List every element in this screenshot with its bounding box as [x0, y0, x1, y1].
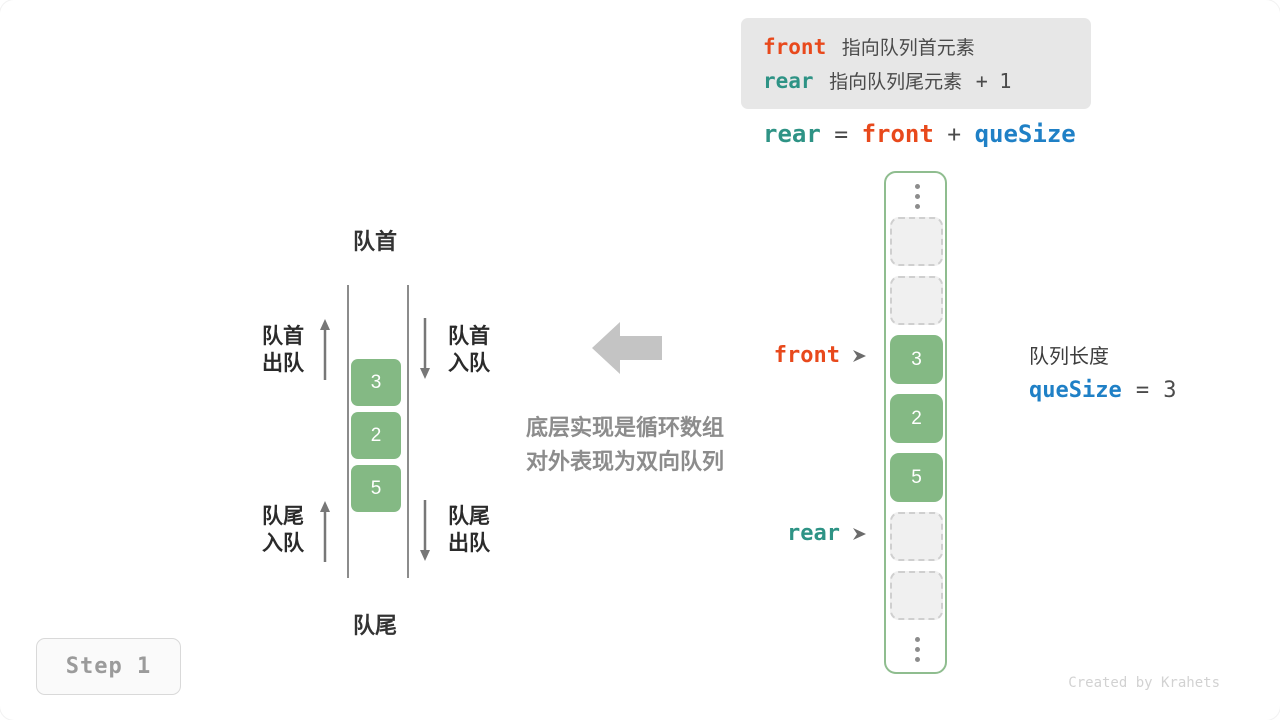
queue-size-note: 队列长度 queSize = 3: [1029, 340, 1176, 409]
label-front-dequeue-line1: 队首: [248, 323, 304, 350]
callout-line-front: front 指向队列首元素: [763, 30, 1091, 64]
array-slot: [890, 217, 943, 266]
rear-offset-value: 1: [999, 69, 1011, 93]
array-slot: 2: [890, 394, 943, 443]
deque-cell: 2: [351, 412, 401, 459]
queue-size-note-label: 队列长度: [1029, 340, 1176, 372]
formula-plus: +: [947, 122, 961, 148]
deque-cell: 3: [351, 359, 401, 406]
label-front-dequeue: 队首 出队: [248, 323, 304, 377]
front-description: 指向队列首元素: [842, 37, 975, 59]
rear-plus-operator: +: [976, 69, 988, 93]
front-dequeue-arrow-icon: [318, 318, 332, 380]
label-back-dequeue-line2: 出队: [448, 530, 504, 557]
credit-text: Created by Krahets: [1060, 675, 1220, 691]
label-front-dequeue-line2: 出队: [248, 350, 304, 377]
queue-size-expression: queSize = 3: [1029, 372, 1176, 409]
callout-line-rear: rear 指向队列尾元素 + 1: [763, 64, 1091, 98]
deque-rail-right: [407, 285, 409, 578]
quesize-variable: queSize: [1029, 378, 1122, 403]
deque-front-label: 队首: [345, 224, 405, 256]
label-back-enqueue: 队尾 入队: [248, 503, 304, 557]
label-front-enqueue-line2: 入队: [448, 350, 504, 377]
back-enqueue-arrow-icon: [318, 500, 332, 562]
label-back-dequeue-line1: 队尾: [448, 503, 504, 530]
label-back-dequeue: 队尾 出队: [448, 503, 504, 557]
back-dequeue-arrow-icon: [418, 500, 432, 562]
array-ellipsis-top-icon: [886, 177, 949, 215]
front-pointer-arrow-icon: [852, 348, 868, 364]
array-slot: [890, 512, 943, 561]
rear-description: 指向队列尾元素: [829, 71, 962, 93]
diagram-canvas: front 指向队列首元素 rear 指向队列尾元素 + 1 rear = fr…: [0, 0, 1280, 720]
step-badge: Step 1: [36, 638, 181, 695]
implementation-caption-line1: 底层实现是循环数组: [500, 412, 750, 446]
quesize-equals: =: [1136, 378, 1149, 403]
rear-pointer-arrow-icon: [852, 526, 868, 542]
array-slot: [890, 571, 943, 620]
front-keyword: front: [763, 35, 826, 59]
array-slot: [890, 276, 943, 325]
implementation-caption-line2: 对外表现为双向队列: [500, 446, 750, 480]
deque-cell: 5: [351, 465, 401, 512]
maps-to-arrow-icon: [592, 320, 662, 376]
label-front-enqueue-line1: 队首: [448, 323, 504, 350]
array-ellipsis-bottom-icon: [886, 630, 949, 668]
label-back-enqueue-line1: 队尾: [248, 503, 304, 530]
deque-back-label: 队尾: [345, 608, 405, 640]
formula-rear: rear: [763, 120, 821, 148]
quesize-value: 3: [1163, 378, 1176, 403]
formula-front: front: [862, 120, 934, 148]
deque-rail-left: [347, 285, 349, 578]
array-slot: 5: [890, 453, 943, 502]
rear-formula: rear = front + queSize: [763, 118, 1076, 150]
front-enqueue-arrow-icon: [418, 318, 432, 380]
rear-pointer-label: rear: [700, 521, 840, 546]
pointer-legend-callout: front 指向队列首元素 rear 指向队列尾元素 + 1: [741, 18, 1091, 109]
circular-array-container: 3 2 5: [884, 171, 947, 674]
implementation-caption: 底层实现是循环数组 对外表现为双向队列: [500, 412, 750, 480]
label-back-enqueue-line2: 入队: [248, 530, 304, 557]
label-front-enqueue: 队首 入队: [448, 323, 504, 377]
array-slot: 3: [890, 335, 943, 384]
front-pointer-label: front: [700, 343, 840, 368]
formula-equals: =: [834, 122, 848, 148]
rear-keyword: rear: [763, 69, 814, 93]
step-badge-label: Step 1: [66, 654, 151, 679]
formula-quesize: queSize: [975, 120, 1076, 148]
